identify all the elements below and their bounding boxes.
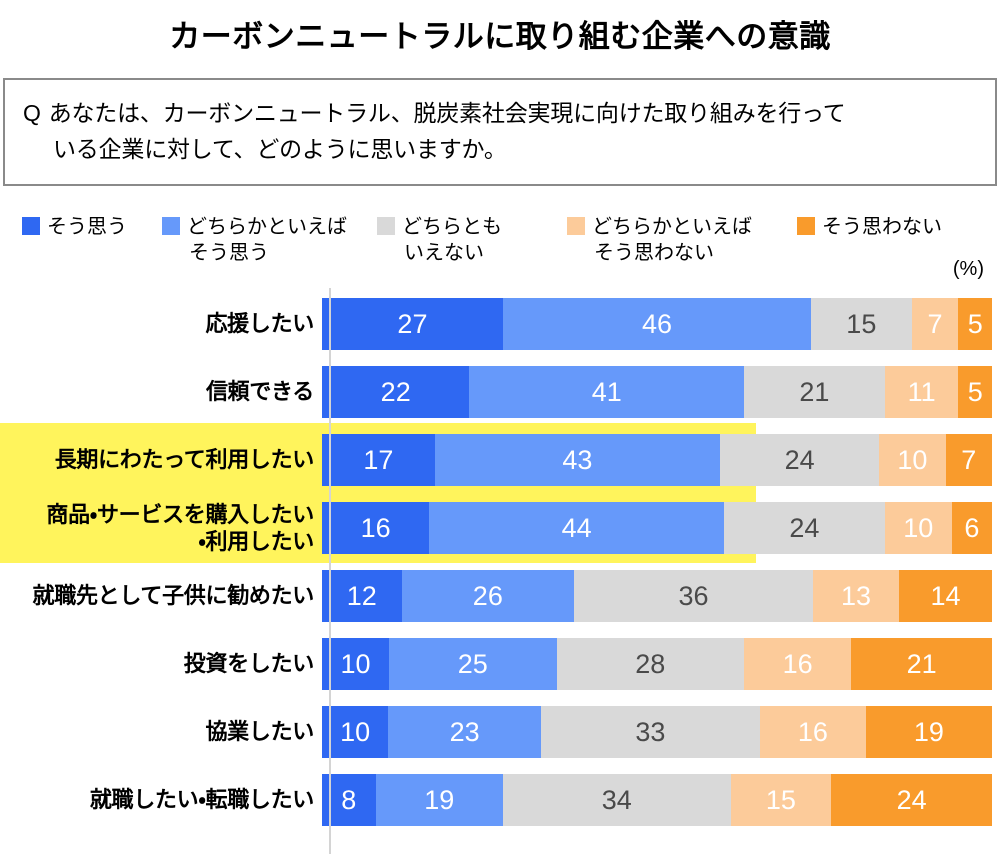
bar-segment-value: 22 (322, 366, 469, 418)
bar-segment-value: 41 (469, 366, 744, 418)
bar-segment-value: 5 (958, 298, 992, 350)
bar-segment-value: 14 (899, 570, 992, 622)
bar-segment-value: 26 (402, 570, 574, 622)
bar-segment-value: 43 (435, 434, 720, 486)
legend-label-1: どちらかといえば そう思う (187, 214, 347, 266)
question-line-1: あなたは、カーボンニュートラル、脱炭素社会実現に向けた取り組みを行って (49, 100, 846, 126)
bar-segment-value: 7 (946, 434, 992, 486)
bar-segment-value: 11 (885, 366, 959, 418)
bar-segment-value: 10 (322, 706, 388, 758)
legend-label-1-line2: そう思う (187, 240, 347, 266)
row-label: 長期にわたって利用したい (0, 446, 322, 474)
bar-segment-value: 33 (541, 706, 760, 758)
legend-item-0[interactable]: そう思う (22, 214, 162, 240)
bar-segment-value: 17 (322, 434, 435, 486)
legend-label-4: そう思わない (822, 214, 942, 240)
legend-item-4[interactable]: そう思わない (797, 214, 982, 240)
legend-label-2: どちらとも いえない (402, 214, 502, 266)
stacked-bar: 819341524 (322, 774, 992, 826)
stacked-bar: 1023331619 (322, 706, 992, 758)
row-label: 就職先として子供に勧めたい (0, 582, 322, 610)
bar-segment-value: 10 (885, 502, 952, 554)
legend-swatch-icon-0 (22, 217, 40, 235)
legend-label-0-line1: そう思う (47, 216, 127, 238)
bar-segment-value: 16 (760, 706, 866, 758)
bar-segment-value: 34 (503, 774, 731, 826)
bar-segment-value: 36 (574, 570, 813, 622)
legend-label-2-line1: どちらとも (402, 216, 502, 238)
bar-segment-value: 19 (376, 774, 503, 826)
row-label: 商品・サービスを購入したい・利用したい (0, 501, 322, 556)
bar-segment-value: 10 (322, 638, 389, 690)
row-label: 信頼できる (0, 378, 322, 406)
bar-segment-value: 25 (389, 638, 557, 690)
legend-label-3-line1: どちらかといえば (592, 216, 752, 238)
bar-segment-value: 27 (322, 298, 503, 350)
chart-row: 協業したい1023331619 (0, 698, 1000, 766)
bar-segment-value: 21 (744, 366, 885, 418)
bar-segment-value: 24 (831, 774, 992, 826)
bar-segment-value: 44 (429, 502, 724, 554)
bar-segment-value: 19 (866, 706, 992, 758)
question-box: Qあなたは、カーボンニュートラル、脱炭素社会実現に向けた取り組みを行って いる企… (3, 78, 997, 186)
legend-label-3-line2: そう思わない (592, 240, 752, 266)
bar-segment-value: 24 (724, 502, 885, 554)
bar-segment-value: 5 (958, 366, 992, 418)
chart-row: 商品・サービスを購入したい・利用したい164424106 (0, 494, 1000, 562)
bar-segment-value: 21 (851, 638, 992, 690)
legend-item-2[interactable]: どちらとも いえない (377, 214, 567, 266)
row-label: 就職したい・転職したい (0, 786, 322, 814)
legend-swatch-icon-4 (797, 217, 815, 235)
bar-segment-value: 16 (744, 638, 851, 690)
unit-label: (%) (953, 258, 984, 281)
question-marker: Q (23, 100, 41, 126)
chart-row: 長期にわたって利用したい174324107 (0, 426, 1000, 494)
legend-label-0: そう思う (47, 214, 127, 240)
legend-label-2-line2: いえない (402, 240, 502, 266)
row-label: 協業したい (0, 718, 322, 746)
bar-segment-value: 23 (388, 706, 541, 758)
bar-segment-value: 12 (322, 570, 402, 622)
stacked-bar: 1025281621 (322, 638, 992, 690)
row-label: 投資をしたい (0, 650, 322, 678)
bar-segment-value: 15 (811, 298, 912, 350)
stacked-bar: 27461575 (322, 298, 992, 350)
chart-row: 就職先として子供に勧めたい1226361314 (0, 562, 1000, 630)
chart-row: 信頼できる224121115 (0, 358, 1000, 426)
stacked-bar-chart: 応援したい27461575信頼できる224121115長期にわたって利用したい1… (0, 288, 1000, 854)
legend-item-3[interactable]: どちらかといえば そう思わない (567, 214, 797, 266)
bar-segment-value: 24 (720, 434, 879, 486)
stacked-bar: 164424106 (322, 502, 992, 554)
page-title: カーボンニュートラルに取り組む企業への意識 (0, 0, 1000, 55)
bar-segment-value: 13 (813, 570, 899, 622)
legend-swatch-icon-2 (377, 217, 395, 235)
legend-swatch-icon-1 (162, 217, 180, 235)
legend-label-3: どちらかといえば そう思わない (592, 214, 752, 266)
bar-segment-value: 10 (879, 434, 945, 486)
row-label: 応援したい (0, 310, 322, 338)
chart-row: 応援したい27461575 (0, 290, 1000, 358)
chart-axis-line (329, 288, 331, 854)
stacked-bar: 224121115 (322, 366, 992, 418)
stacked-bar: 174324107 (322, 434, 992, 486)
bar-segment-value: 46 (503, 298, 811, 350)
bar-segment-value: 6 (952, 502, 992, 554)
legend: そう思う どちらかといえば そう思う どちらとも いえない どちらかといえば そ… (22, 214, 982, 266)
legend-swatch-icon-3 (567, 217, 585, 235)
bar-segment-value: 28 (557, 638, 745, 690)
legend-item-1[interactable]: どちらかといえば そう思う (162, 214, 377, 266)
bar-segment-value: 7 (912, 298, 959, 350)
legend-label-4-line1: そう思わない (822, 216, 942, 238)
legend-label-1-line1: どちらかといえば (187, 216, 347, 238)
bar-segment-value: 15 (731, 774, 832, 826)
bar-segment-value: 16 (322, 502, 429, 554)
chart-row: 就職したい・転職したい819341524 (0, 766, 1000, 834)
stacked-bar: 1226361314 (322, 570, 992, 622)
chart-row: 投資をしたい1025281621 (0, 630, 1000, 698)
question-text: Qあなたは、カーボンニュートラル、脱炭素社会実現に向けた取り組みを行って いる企… (5, 80, 995, 167)
question-line-2: いる企業に対して、どのように思いますか。 (23, 132, 981, 168)
